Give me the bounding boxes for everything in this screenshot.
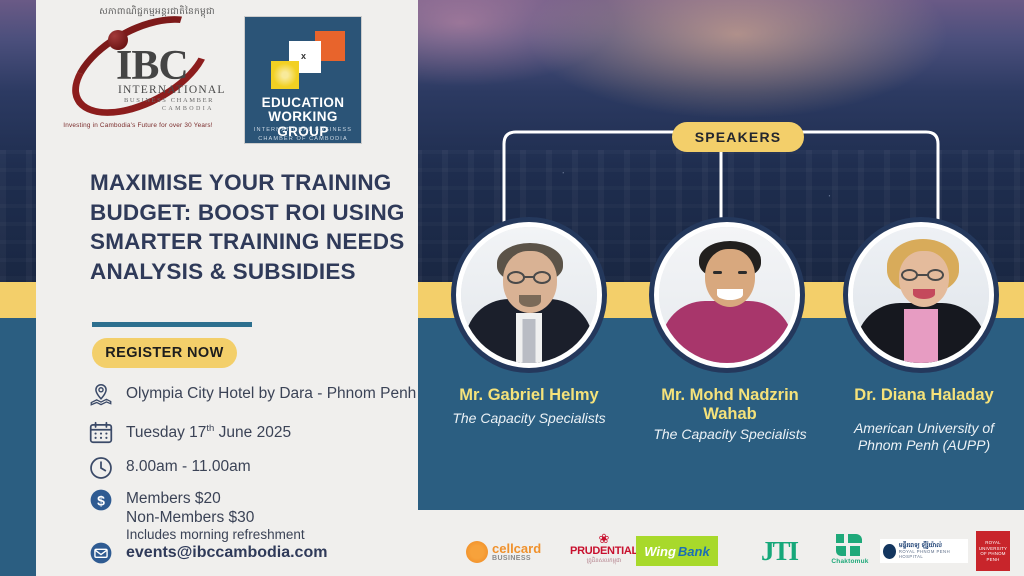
speaker-avatar-1 — [456, 222, 602, 368]
wingbank-name-1: Wing — [644, 544, 676, 559]
date-main: Tuesday 17 — [126, 424, 206, 441]
teal-left-strip — [0, 318, 36, 576]
email-text[interactable]: events@ibccambodia.com — [126, 540, 327, 563]
ibc-sub-line2: BUSINESS CHAMBER — [124, 97, 214, 104]
price-members: Members $20 — [126, 490, 254, 509]
chaktomuk-name: Chaktomuk — [824, 558, 876, 565]
title-underline — [92, 322, 252, 327]
speaker-org-2: The Capacity Specialists — [640, 426, 820, 443]
speaker-name-3: Dr. Diana Haladay — [834, 386, 1014, 405]
prudential-mark-icon: ❀ — [562, 532, 646, 545]
wingbank-name-2: Bank — [678, 544, 710, 559]
sponsor-logo-prudential: ❀ PRUDENTIAL ព្រូដិនសលកម្ពុជា — [562, 532, 646, 568]
venue-text: Olympia City Hotel by Dara - Phnom Penh — [126, 382, 416, 404]
sponsor-logo-jti: JTI — [752, 535, 806, 567]
education-working-group-logo: x EDUCATION WORKING GROUP INTERNATIONAL … — [244, 16, 362, 144]
ibc-tagline: Investing in Cambodia's Future for over … — [44, 122, 232, 129]
cellcard-sub: BUSINESS — [492, 555, 541, 562]
speaker-org-1: The Capacity Specialists — [438, 410, 620, 427]
email-row: events@ibccambodia.com — [88, 540, 327, 566]
hospital-sub: ROYAL PHNOM PENH HOSPITAL — [899, 549, 965, 559]
ewg-line2: WORKING GROUP — [245, 109, 361, 139]
location-pin-icon — [88, 382, 114, 408]
speaker-name-2: Mr. Mohd Nadzrin Wahab — [640, 386, 820, 425]
sponsor-logo-chaktomuk: Chaktomuk — [824, 534, 876, 572]
date-row: Tuesday 17th June 2025 — [88, 420, 291, 446]
ewg-line3: INTERNATIONAL BUSINESS — [245, 127, 361, 133]
speaker-avatar-2 — [654, 222, 800, 368]
prudential-name: PRUDENTIAL — [562, 545, 646, 557]
university-name: ROYAL UNIVERSITY OF PHNOM PENH — [976, 540, 1010, 562]
event-poster: SPEAKERS — [0, 0, 1024, 576]
prudential-khmer: ព្រូដិនសលកម្ពុជា — [562, 557, 646, 565]
svg-text:$: $ — [97, 492, 105, 508]
time-row: 8.00am - 11.00am — [88, 455, 251, 481]
sponsor-logo-university: ROYAL UNIVERSITY OF PHNOM PENH — [976, 531, 1010, 571]
ibc-logo: IBC INTERNATIONAL BUSINESS CHAMBER CAMBO… — [58, 18, 254, 122]
price-row: $ Members $20 Non-Members $30 — [88, 487, 254, 528]
envelope-icon — [88, 540, 114, 566]
price-text: Members $20 Non-Members $30 — [126, 487, 254, 528]
sponsor-logo-cellcard: cellcard BUSINESS — [466, 538, 552, 566]
price-non-members: Non-Members $30 — [126, 509, 254, 528]
portrait-mohd-nadzrin-wahab — [659, 227, 795, 363]
hospital-mark-icon — [883, 544, 896, 559]
ibc-sub-line3: CAMBODIA — [162, 106, 214, 112]
date-text: Tuesday 17th June 2025 — [126, 420, 291, 443]
ewg-star-icon — [271, 61, 299, 89]
portrait-diana-haladay — [853, 227, 989, 363]
speaker-org-3: American University of Phnom Penh (AUPP) — [836, 420, 1012, 454]
calendar-icon — [88, 420, 114, 446]
date-rest: June 2025 — [214, 424, 291, 441]
venue-row: Olympia City Hotel by Dara - Phnom Penh — [88, 382, 416, 408]
ewg-x-mark-icon: x — [301, 51, 306, 61]
clock-icon — [88, 455, 114, 481]
cellcard-name: cellcard — [492, 542, 541, 555]
hospital-name: មន្ទីរពេទ្យ ឡឺរ៉ូយ៉ាល់ — [899, 543, 965, 550]
speaker-avatar-3 — [848, 222, 994, 368]
cellcard-mark-icon — [466, 541, 488, 563]
ewg-line4: CHAMBER OF CAMBODIA — [245, 136, 361, 142]
chaktomuk-mark-icon — [836, 534, 864, 556]
event-info-card: សភាពាណិជ្ជកម្មអន្តរជាតិនៃកម្ពុជា IBC INT… — [36, 0, 418, 576]
page-title: MAXIMISE YOUR TRAINING BUDGET: BOOST ROI… — [90, 168, 430, 287]
speaker-name-1: Mr. Gabriel Helmy — [438, 386, 620, 405]
time-text: 8.00am - 11.00am — [126, 455, 251, 477]
register-now-button[interactable]: REGISTER NOW — [92, 338, 237, 368]
sponsor-logo-hospital: មន្ទីរពេទ្យ ឡឺរ៉ូយ៉ាល់ ROYAL PHNOM PENH … — [880, 539, 968, 563]
portrait-gabriel-helmy — [461, 227, 597, 363]
ewg-line1: EDUCATION — [245, 95, 361, 110]
ibc-wordmark: IBC — [116, 42, 188, 90]
dollar-icon: $ — [88, 487, 114, 513]
ibc-sub-line1: INTERNATIONAL — [118, 84, 226, 96]
sponsor-logo-wingbank: Wing Bank — [636, 536, 718, 566]
speakers-badge: SPEAKERS — [672, 122, 804, 152]
